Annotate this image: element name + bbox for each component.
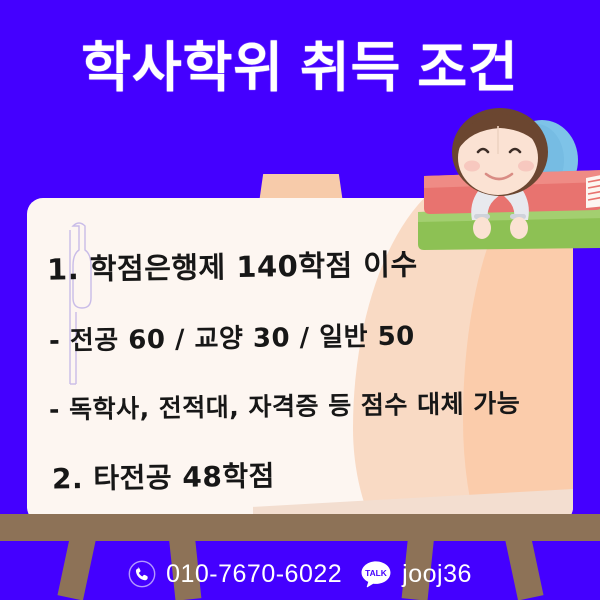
easel-crossbar <box>0 514 600 541</box>
phone-number[interactable]: 010-7670-6022 <box>166 559 342 589</box>
left-hand <box>473 217 491 239</box>
kakao-id[interactable]: jooj36 <box>402 559 472 589</box>
page-title: 학사학위 취득 조건 <box>0 34 600 102</box>
board-line-item-1-b: - 독학사, 전적대, 자격증 등 점수 대체 가능 <box>49 384 521 427</box>
board-line-item-2: 2. 타전공 48학점 <box>52 454 275 497</box>
board-line-item-1: 1. 학점은행제 140학점 이수 <box>47 241 418 288</box>
contact-bar: 010-7670-6022 TALK jooj36 <box>0 552 600 596</box>
poster-root: 학사학위 취득 조건 1. 학점은행제 140학점 이수 - 전공 60 / 교… <box>0 0 600 600</box>
student-illustration <box>410 108 600 256</box>
kakaotalk-icon[interactable]: TALK <box>360 560 392 588</box>
board-line-item-1-a: - 전공 60 / 교양 30 / 일반 50 <box>49 315 415 357</box>
kakao-icon-label: TALK <box>365 568 387 578</box>
right-hand <box>510 217 528 239</box>
phone-handset-icon[interactable] <box>128 560 156 588</box>
